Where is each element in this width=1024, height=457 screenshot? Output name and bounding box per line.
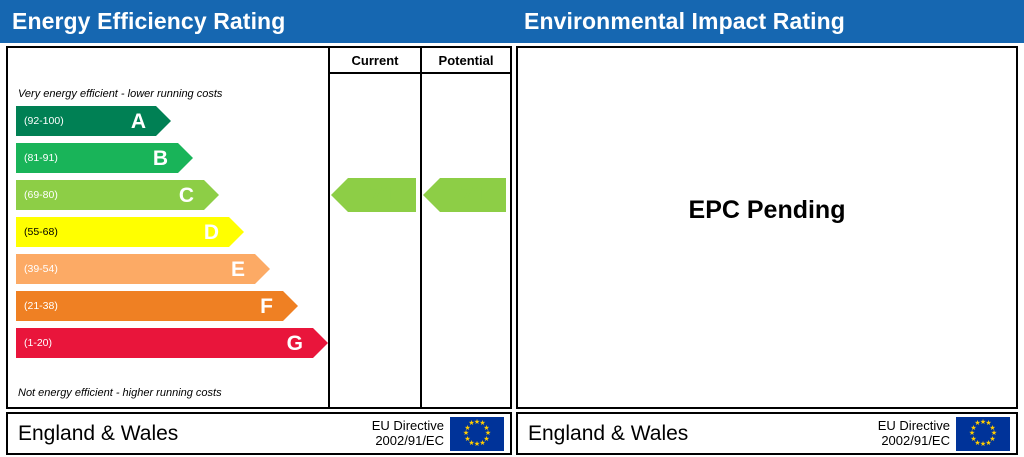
footer-right-region: England & Wales	[518, 422, 878, 446]
footer-left-region: England & Wales	[8, 422, 372, 446]
epc-certificate: Energy Efficiency Rating Environmental I…	[0, 0, 1024, 457]
eu-flag-icon: ★★★★★★★★★★★★	[956, 417, 1010, 451]
footer-left-directive-line2: 2002/91/EC	[372, 434, 444, 449]
band-c-range: (69-80)	[16, 189, 58, 201]
band-b-letter: B	[153, 148, 168, 169]
potential-rating-arrow: 71	[440, 178, 506, 212]
band-f-letter: F	[260, 296, 273, 317]
footer-right-directive-line2: 2002/91/EC	[878, 434, 950, 449]
eu-flag-icon: ★★★★★★★★★★★★	[450, 417, 504, 451]
band-g: (1-20) G	[16, 328, 313, 358]
band-e-range: (39-54)	[16, 263, 58, 275]
band-g-letter: G	[287, 333, 303, 354]
environmental-impact-title: Environmental Impact Rating	[512, 8, 845, 35]
band-b: (81-91) B	[16, 143, 178, 173]
epc-pending-message: EPC Pending	[518, 196, 1016, 225]
band-d-range: (55-68)	[16, 226, 58, 238]
band-e: (39-54) E	[16, 254, 255, 284]
energy-efficiency-title: Energy Efficiency Rating	[0, 8, 285, 35]
column-header-potential: Potential	[420, 48, 510, 74]
current-arrow-tip	[331, 178, 348, 212]
energy-efficiency-header: Energy Efficiency Rating	[0, 0, 512, 43]
potential-rating-value: 71	[460, 182, 486, 209]
current-rating-arrow: 71	[348, 178, 416, 212]
band-c: (69-80) C	[16, 180, 204, 210]
band-g-range: (1-20)	[16, 337, 52, 349]
note-very-efficient: Very energy efficient - lower running co…	[18, 88, 222, 100]
column-header-current: Current	[328, 48, 420, 74]
column-divider-2	[420, 74, 422, 407]
footer-right: England & Wales EU Directive 2002/91/EC …	[516, 412, 1018, 455]
environmental-impact-panel: EPC Pending	[516, 46, 1018, 409]
current-rating-value: 71	[369, 182, 395, 209]
environmental-impact-header: Environmental Impact Rating	[512, 0, 1024, 43]
band-d: (55-68) D	[16, 217, 229, 247]
band-f-range: (21-38)	[16, 300, 58, 312]
band-f: (21-38) F	[16, 291, 283, 321]
potential-arrow-tip	[423, 178, 440, 212]
note-not-efficient: Not energy efficient - higher running co…	[18, 387, 222, 399]
footer-left: England & Wales EU Directive 2002/91/EC …	[6, 412, 512, 455]
band-d-letter: D	[204, 222, 219, 243]
band-c-letter: C	[179, 185, 194, 206]
band-b-range: (81-91)	[16, 152, 58, 164]
band-a: (92-100) A	[16, 106, 156, 136]
footer-left-directive-line1: EU Directive	[372, 419, 444, 434]
footer-right-directive: EU Directive 2002/91/EC	[878, 419, 956, 449]
band-a-letter: A	[131, 111, 146, 132]
footer-left-directive: EU Directive 2002/91/EC	[372, 419, 450, 449]
column-divider-1	[328, 74, 330, 407]
band-e-letter: E	[231, 259, 245, 280]
footer-right-directive-line1: EU Directive	[878, 419, 950, 434]
band-a-range: (92-100)	[16, 115, 64, 127]
energy-efficiency-panel: Current Potential Very energy efficient …	[6, 46, 512, 409]
